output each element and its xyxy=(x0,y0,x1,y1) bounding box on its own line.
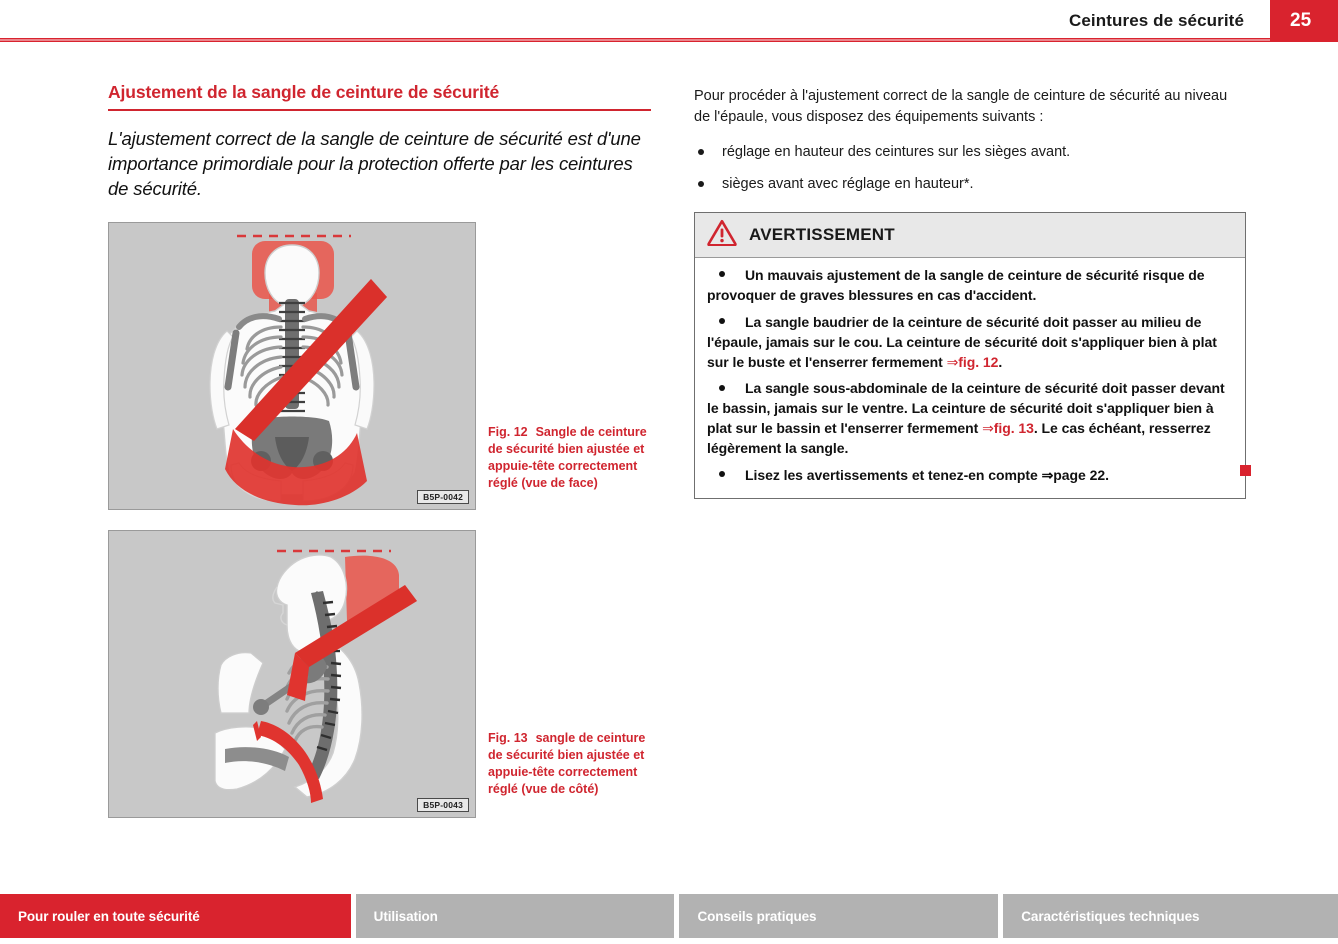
warning-box: AVERTISSEMENT Un mauvais ajustement de l… xyxy=(694,212,1246,499)
right-column: Pour procéder à l'ajustement correct de … xyxy=(694,86,1246,206)
figure-12-label: Fig. 12 xyxy=(488,425,528,439)
list-item: sièges avant avec réglage en hauteur*. xyxy=(694,174,1246,195)
xref-arrow-icon: ⇒ xyxy=(982,420,994,436)
bullet-text: réglage en hauteur des ceintures sur les… xyxy=(722,144,1070,160)
footer-tab-label: Caractéristiques techniques xyxy=(1021,909,1199,924)
warning-title: AVERTISSEMENT xyxy=(749,225,895,245)
bullet-dot-icon xyxy=(698,149,704,155)
page-number: 25 xyxy=(1290,10,1311,32)
left-column: Ajustement de la sangle de ceinture de s… xyxy=(108,82,656,202)
bullet-dot-icon xyxy=(719,271,725,277)
xref-arrow-icon: ⇒ xyxy=(947,354,959,370)
warning-item: Un mauvais ajustement de la sangle de ce… xyxy=(707,266,1233,306)
warning-box-body: Un mauvais ajustement de la sangle de ce… xyxy=(695,258,1245,498)
warning-item: Lisez les avertissements et tenez-en com… xyxy=(707,466,1233,486)
section-heading: Ajustement de la sangle de ceinture de s… xyxy=(108,82,656,109)
page-title: Ceintures de sécurité xyxy=(1069,11,1244,31)
page-header: Ceintures de sécurité 25 xyxy=(0,0,1338,42)
side-view-seatbelt-illustration xyxy=(109,531,475,817)
figure-12-code: B5P-0042 xyxy=(417,490,469,504)
warning-triangle-icon xyxy=(707,219,737,251)
figure-12-caption: Fig. 12Sangle de ceinture de sécurité bi… xyxy=(488,424,648,492)
right-intro-text: Pour procéder à l'ajustement correct de … xyxy=(694,86,1246,128)
xref-link-fig-12[interactable]: fig. 12 xyxy=(958,354,998,370)
bullet-dot-icon xyxy=(698,181,704,187)
figure-13-label: Fig. 13 xyxy=(488,731,528,745)
xref-link-page-22[interactable]: page 22. xyxy=(1053,467,1109,483)
figure-13: B5P-0043 xyxy=(108,530,476,818)
figure-13-code: B5P-0043 xyxy=(417,798,469,812)
footer-tab-securite[interactable]: Pour rouler en toute sécurité xyxy=(0,894,351,938)
figure-12-image: B5P-0042 xyxy=(108,222,476,510)
figure-13-caption: Fig. 13sangle de ceinture de sécurité bi… xyxy=(488,730,648,798)
warning-item-text-after: . xyxy=(998,354,1002,370)
front-view-seatbelt-illustration xyxy=(109,223,475,509)
footer-tab-label: Pour rouler en toute sécurité xyxy=(18,909,200,924)
bullet-dot-icon xyxy=(719,318,725,324)
warning-item: La sangle sous-abdominale de la ceinture… xyxy=(707,379,1233,459)
warning-item-text: Un mauvais ajustement de la sangle de ce… xyxy=(707,267,1205,303)
left-intro-text: L'ajustement correct de la sangle de cei… xyxy=(108,127,656,202)
bullet-dot-icon xyxy=(719,385,725,391)
xref-arrow-icon: ⇒ xyxy=(1042,467,1054,483)
list-item: réglage en hauteur des ceintures sur les… xyxy=(694,142,1246,163)
section-end-marker xyxy=(1240,465,1251,476)
footer-tab-label: Conseils pratiques xyxy=(697,909,816,924)
page-number-block: 25 xyxy=(1270,0,1338,42)
header-rule-highlight xyxy=(0,39,1270,41)
warning-item: La sangle baudrier de la ceinture de séc… xyxy=(707,313,1233,373)
equipment-bullet-list: réglage en hauteur des ceintures sur les… xyxy=(694,142,1246,195)
section-heading-rule xyxy=(108,109,651,111)
footer-tab-utilisation[interactable]: Utilisation xyxy=(356,894,675,938)
footer-nav: Pour rouler en toute sécurité Utilisatio… xyxy=(0,888,1338,944)
figure-13-image: B5P-0043 xyxy=(108,530,476,818)
warning-item-text: Lisez les avertissements et tenez-en com… xyxy=(745,467,1042,483)
bullet-dot-icon xyxy=(719,471,725,477)
warning-box-header: AVERTISSEMENT xyxy=(695,213,1245,258)
footer-tab-label: Utilisation xyxy=(374,909,438,924)
xref-link-fig-13[interactable]: fig. 13 xyxy=(994,420,1034,436)
footer-tab-caracteristiques[interactable]: Caractéristiques techniques xyxy=(1003,894,1338,938)
bullet-text: sièges avant avec réglage en hauteur*. xyxy=(722,176,974,192)
figure-12: B5P-0042 xyxy=(108,222,476,510)
footer-tab-conseils[interactable]: Conseils pratiques xyxy=(679,894,998,938)
